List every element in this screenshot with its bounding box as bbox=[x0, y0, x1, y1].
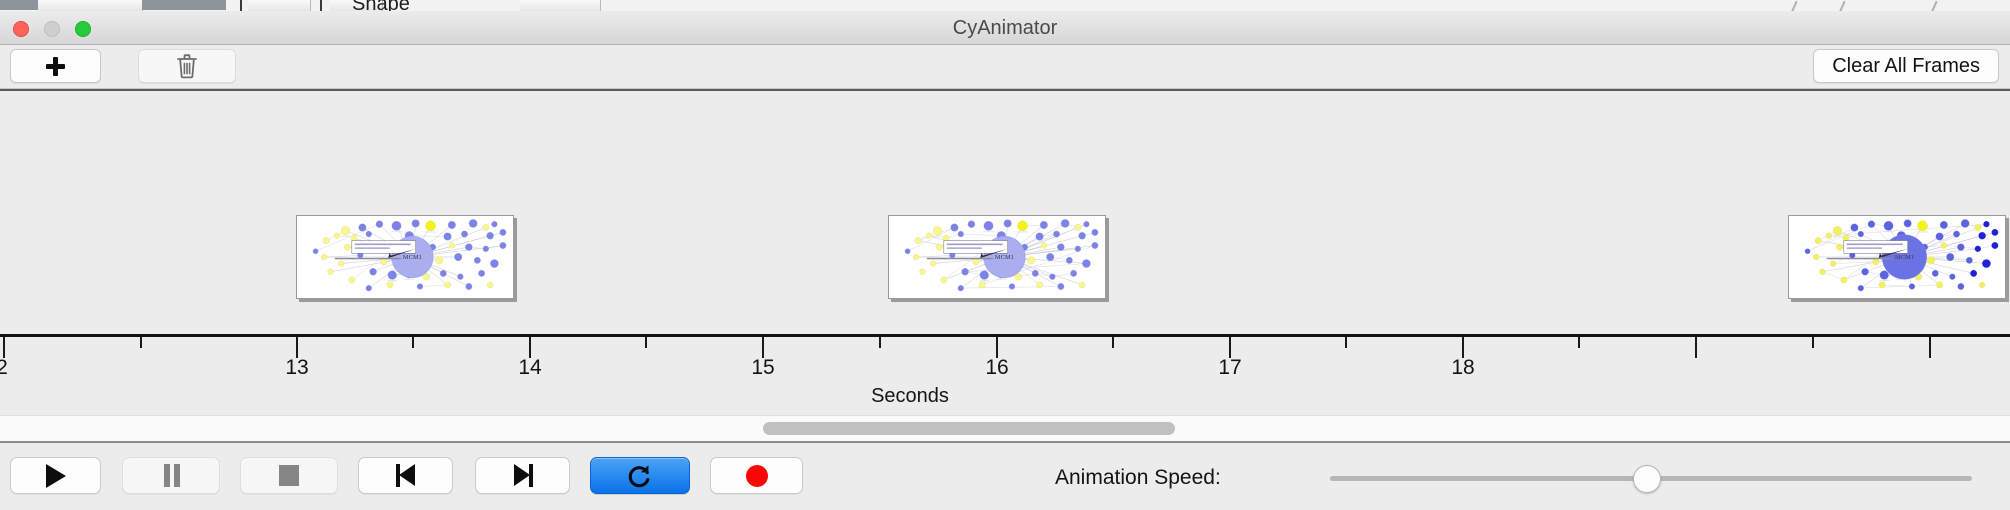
ruler-tick-label: 18 bbox=[1451, 356, 1474, 380]
network-graph-thumbnail: MCM1 bbox=[889, 216, 1105, 298]
ruler-tick-label: 14 bbox=[518, 356, 541, 380]
clear-all-frames-button[interactable]: Clear All Frames bbox=[1813, 49, 1999, 83]
ruler-tick-minor bbox=[1112, 337, 1114, 348]
ruler-tick-minor bbox=[879, 337, 881, 348]
ruler-tick-label: 16 bbox=[985, 356, 1008, 380]
record-circle-icon bbox=[746, 465, 768, 487]
ruler-baseline bbox=[0, 334, 2010, 337]
page-title: CyAnimator bbox=[0, 11, 2010, 45]
ruler-tick-major bbox=[1929, 337, 1931, 358]
ruler-tick-label: 15 bbox=[751, 356, 774, 380]
axis-title: Seconds bbox=[0, 385, 1820, 408]
play-icon bbox=[46, 464, 66, 488]
playback-toolbar: Animation Speed: bbox=[0, 445, 2010, 510]
ruler-tick-minor bbox=[1812, 337, 1814, 348]
ruler-tick-label: 17 bbox=[1218, 356, 1241, 380]
ruler-tick-major bbox=[296, 337, 298, 358]
hub-node-label: MCM1 bbox=[1895, 254, 1914, 261]
animation-speed-slider[interactable] bbox=[1330, 476, 1972, 481]
record-button[interactable] bbox=[710, 457, 803, 494]
ruler-tick-major bbox=[1695, 337, 1697, 358]
hub-node-label: MCM1 bbox=[995, 254, 1014, 261]
timeline-frame[interactable]: MCM1 bbox=[296, 215, 514, 299]
skip-forward-icon bbox=[513, 464, 533, 487]
horizontal-scrollbar[interactable] bbox=[0, 415, 2010, 443]
next-frame-button[interactable] bbox=[475, 457, 570, 494]
timeline-frame[interactable]: MCM1 bbox=[888, 215, 1106, 299]
ruler-tick-minor bbox=[645, 337, 647, 348]
add-frame-button[interactable] bbox=[10, 49, 101, 83]
ruler-tick-label: 2 bbox=[0, 356, 8, 380]
timeline-frame[interactable]: MCM1 bbox=[1788, 215, 2006, 299]
trash-icon bbox=[176, 53, 198, 79]
timeline-panel[interactable]: MCM1MCM1MCM1 1314151617182 Seconds bbox=[0, 89, 2010, 415]
slider-thumb[interactable] bbox=[1633, 465, 1661, 493]
network-graph-thumbnail: MCM1 bbox=[297, 216, 513, 298]
stop-icon bbox=[279, 465, 299, 486]
animation-speed-label: Animation Speed: bbox=[1055, 445, 1221, 510]
ruler-tick-minor bbox=[412, 337, 414, 348]
ruler-tick-minor bbox=[1345, 337, 1347, 348]
network-graph-thumbnail: MCM1 bbox=[1789, 216, 2005, 298]
background-chip bbox=[142, 0, 226, 10]
titlebar[interactable]: CyAnimator bbox=[0, 11, 2010, 45]
plus-icon bbox=[46, 57, 65, 76]
ruler-tick-minor bbox=[1578, 337, 1580, 348]
ruler-tick-major bbox=[762, 337, 764, 358]
delete-frame-button[interactable] bbox=[138, 49, 236, 83]
pause-button[interactable] bbox=[122, 457, 220, 494]
ruler-tick-major bbox=[1229, 337, 1231, 358]
hub-node-label: MCM1 bbox=[403, 254, 422, 261]
pause-icon bbox=[162, 464, 181, 487]
play-button[interactable] bbox=[10, 457, 101, 494]
ruler-tick-label: 13 bbox=[285, 356, 308, 380]
loop-button[interactable] bbox=[590, 457, 690, 494]
clear-all-frames-label: Clear All Frames bbox=[1832, 55, 1980, 78]
ruler-tick-major bbox=[3, 337, 5, 358]
previous-frame-button[interactable] bbox=[358, 457, 453, 494]
ruler-tick-major bbox=[996, 337, 998, 358]
ruler-tick-minor bbox=[140, 337, 142, 348]
loop-refresh-icon bbox=[626, 462, 654, 490]
ruler-tick-major bbox=[529, 337, 531, 358]
scrollbar-thumb[interactable] bbox=[763, 422, 1175, 435]
ruler-tick-major bbox=[1462, 337, 1464, 358]
stop-button[interactable] bbox=[240, 457, 338, 494]
toolbar: Clear All Frames bbox=[0, 45, 2010, 89]
skip-back-icon bbox=[396, 464, 416, 487]
cyanimator-window: Shape CyAnimator Clear All Frames bbox=[0, 0, 2010, 510]
background-chip bbox=[0, 0, 38, 10]
